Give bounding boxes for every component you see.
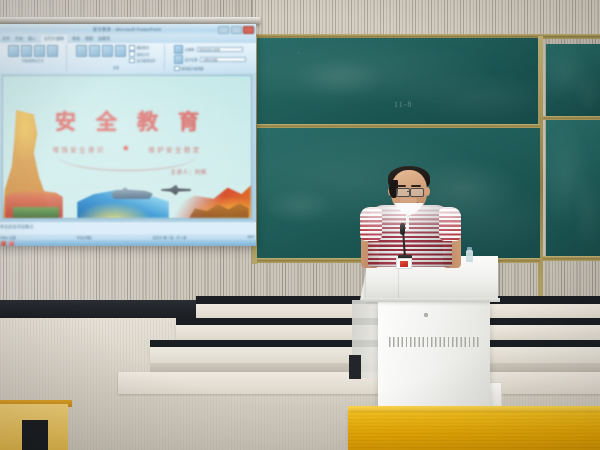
checkbox-icon[interactable] (129, 58, 135, 64)
setup-slideshow-icon[interactable] (76, 45, 87, 57)
green-chalkboard-upper-right (546, 44, 600, 116)
resolution-icon (174, 45, 183, 54)
resolution-row[interactable]: 分辨率: 使用当前分辨率 (174, 45, 246, 54)
checkbox-icon[interactable] (129, 51, 135, 57)
sleeve-right (439, 207, 461, 241)
checkbox-label: 使用演示者视图 (181, 66, 203, 71)
tab-home[interactable]: 开始 (15, 36, 23, 42)
fighter-jet-art (161, 184, 191, 196)
presenter-credit: 主讲人：刘帆 (170, 168, 207, 176)
from-beginning-icon[interactable] (8, 45, 19, 57)
projection-screen: 安全教育 - Microsoft PowerPoint 文件 开始 插入 幻灯片… (0, 24, 256, 246)
ribbon[interactable]: 开始放映幻灯片 播放旁白 (0, 43, 256, 74)
tab-view[interactable]: 视图 (85, 36, 93, 42)
taskbar[interactable] (0, 240, 256, 246)
resolution-combobox[interactable]: 使用当前分辨率 (197, 47, 243, 52)
tab-slideshow[interactable]: 幻灯片放映 (41, 35, 67, 43)
eyebrow-left (396, 185, 406, 187)
status-zoom[interactable]: 66% (248, 235, 254, 239)
white-lectern-body (378, 302, 490, 422)
checkbox-play-narrations[interactable]: 播放旁白 (129, 45, 155, 51)
ribbon-group-label: 设置 (113, 65, 119, 70)
powerpoint-icon[interactable] (1, 241, 6, 246)
status-language: 中文(中国) (77, 235, 92, 240)
ceiling-slat-strip (252, 0, 600, 36)
shirt-button (407, 222, 409, 224)
sleeve-left (360, 207, 382, 241)
tab-insert[interactable]: 插入 (28, 36, 36, 42)
microphone-head (400, 223, 405, 235)
checkbox-show-media-controls[interactable]: 显示媒体控件 (129, 58, 155, 64)
tab-addins[interactable]: 加载项 (98, 36, 110, 42)
ear-right (425, 187, 430, 196)
branded-placard (396, 258, 412, 269)
podium-cable-shadow (349, 355, 361, 379)
checkbox-icon[interactable] (174, 66, 180, 72)
slide-subtitle: 增强安全意识 ★ 维护安全稳定 (3, 143, 251, 154)
shirt-button (407, 215, 409, 217)
chalk-smudge (294, 58, 384, 98)
display-on-row[interactable]: 显示位置: 主要监视器 (174, 55, 246, 64)
ribbon-icon-row[interactable] (8, 44, 58, 57)
notes-placeholder: 单击此处添加备注 (0, 224, 34, 230)
subtitle-left-text: 增强安全意识 (52, 144, 105, 154)
green-chalkboard-upper-left: 11-8 ' (254, 38, 540, 124)
display-on-label: 显示位置: (185, 57, 199, 62)
checkbox-label: 显示媒体控件 (136, 58, 155, 63)
star-icon: ★ (122, 143, 132, 154)
placard-logo-icon (400, 261, 408, 267)
checkbox-label: 使用计时 (136, 52, 149, 57)
ribbon-group-label: 开始放映幻灯片 (22, 58, 44, 63)
ribbon-icon-row[interactable] (76, 44, 126, 57)
close-icon[interactable] (243, 26, 254, 34)
ribbon-tab-strip[interactable]: 文件 开始 插入 幻灯片放映 审阅 视图 加载项 (0, 35, 256, 43)
rehearse-timings-icon[interactable] (102, 45, 113, 57)
blue-wave-art (77, 182, 169, 218)
powerpoint-title-bar: 安全教育 - Microsoft PowerPoint (0, 24, 256, 35)
blackboard-bottom-rail-right (543, 256, 600, 261)
checkbox-use-timings[interactable]: 使用计时 (129, 51, 155, 57)
lock-icon (424, 313, 428, 317)
desk-grain-texture (348, 412, 600, 450)
ribbon-group-setup[interactable]: 播放旁白 使用计时 显示媒体控件 设置 (68, 44, 165, 71)
slide-title: 安全教育 (3, 106, 251, 136)
tab-file[interactable]: 文件 (2, 36, 10, 42)
window-title: 安全教育 - Microsoft PowerPoint (93, 27, 161, 33)
window-controls[interactable] (218, 26, 254, 34)
eyeglasses-bridge (407, 191, 411, 192)
water-bottle (466, 250, 473, 262)
resolution-label: 分辨率: (185, 47, 195, 52)
record-slideshow-icon[interactable] (115, 45, 126, 57)
podium-lip (362, 298, 500, 302)
chalk-mark: 11-8 (394, 100, 412, 109)
sleeve-gradient (439, 207, 461, 241)
eyebrow-right (411, 185, 421, 187)
ribbon-group-monitors[interactable]: 分辨率: 使用当前分辨率 显示位置: 主要监视器 使用演示者视图 监视器 (166, 44, 254, 71)
status-theme: Office 主题 (0, 235, 16, 240)
naval-ship-art (109, 186, 153, 200)
yellow-student-desk (348, 412, 600, 450)
slide-1[interactable]: 安全教育 增强安全意识 ★ 维护安全稳定 主讲人：刘帆 (2, 75, 252, 219)
ribbon-group-start-slideshow[interactable]: 开始放映幻灯片 (0, 44, 67, 71)
maximize-icon[interactable] (231, 26, 242, 34)
checkbox-presenter-view[interactable]: 使用演示者视图 (174, 66, 246, 72)
custom-slideshow-icon[interactable] (47, 45, 58, 57)
subtitle-right-text: 维护安全稳定 (148, 144, 201, 154)
notes-pane[interactable]: 单击此处添加备注 (0, 221, 256, 235)
slide-canvas[interactable]: 安全教育 增强安全意识 ★ 维护安全稳定 主讲人：刘帆 (0, 73, 256, 221)
classroom-scene: 11-8 ' 安全教育 - Microsoft PowerPoint 文件 开始… (0, 0, 600, 450)
from-current-slide-icon[interactable] (21, 45, 32, 57)
greenery-art (13, 207, 59, 218)
sleeve-gradient (360, 207, 382, 241)
chalk-mark-secondary: ' (298, 52, 300, 58)
display-on-combobox[interactable]: 主要监视器 (200, 57, 246, 62)
hide-slide-icon[interactable] (89, 45, 100, 57)
monitor-icon (174, 55, 183, 64)
checkbox-icon[interactable] (129, 45, 135, 51)
tab-review[interactable]: 审阅 (72, 36, 80, 42)
broadcast-slideshow-icon[interactable] (34, 45, 45, 57)
minimize-icon[interactable] (218, 26, 229, 34)
eyeglasses-lens-right (410, 188, 424, 197)
checkbox-label: 播放旁白 (136, 45, 149, 50)
wooden-desk-opening (22, 420, 48, 450)
podium-ventilation-slits (389, 337, 481, 347)
chalk-smudge (264, 188, 334, 224)
green-chalkboard-lower-right (546, 120, 600, 256)
eyeglasses-lens-left (396, 188, 410, 197)
status-slide-count: 幻灯片 第 1 张，共 1 张 (153, 235, 186, 240)
sogou-input-icon[interactable] (9, 241, 14, 246)
